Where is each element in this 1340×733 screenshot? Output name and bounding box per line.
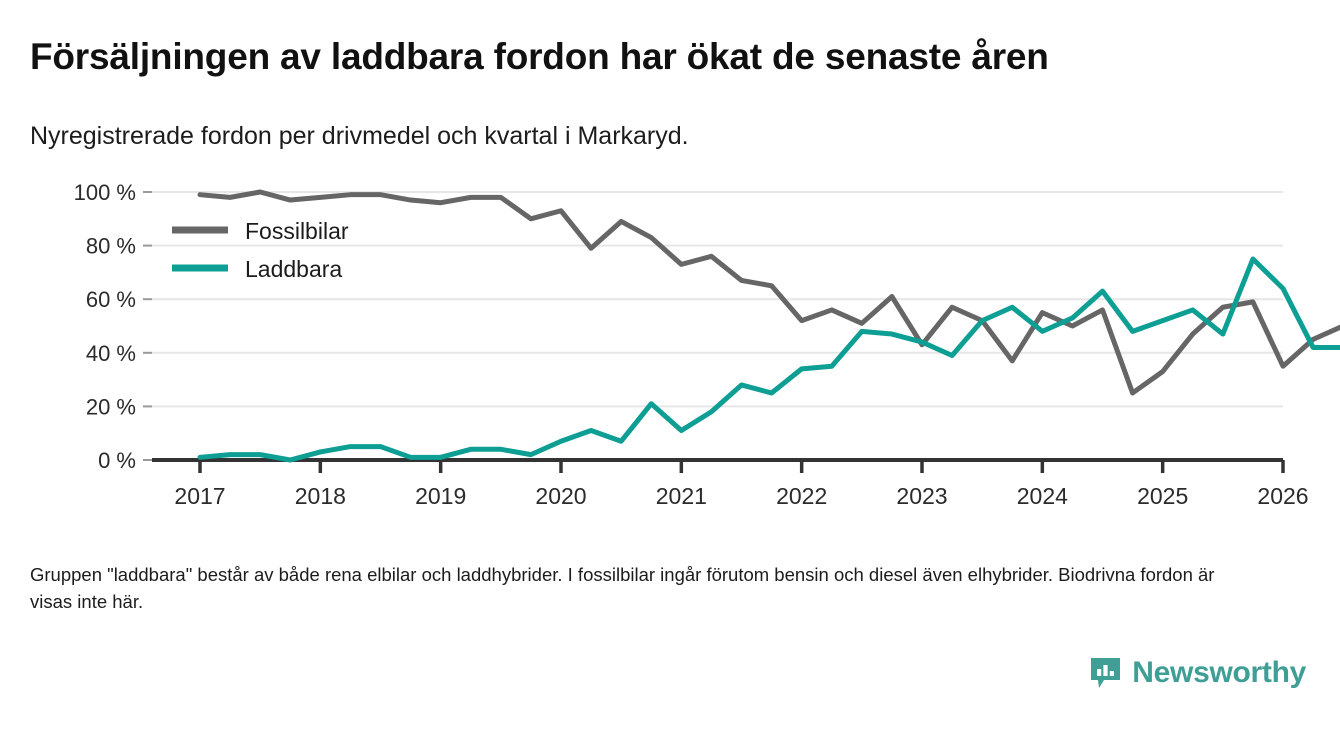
x-axis-tick-label: 2020 [535,483,586,509]
y-axis-tick-label: 0 % [98,448,136,473]
x-axis-tick-label: 2017 [174,483,225,509]
x-axis-tick-label: 2024 [1017,483,1068,509]
chart-subtitle: Nyregistrerade fordon per drivmedel och … [30,122,689,151]
x-axis-tick-label: 2026 [1257,483,1308,509]
legend-label-fossilbilar: Fossilbilar [245,218,349,244]
series-line-fossilbilar [200,192,1340,393]
chart-series-lines [200,192,1340,460]
x-axis-tick-label: 2022 [776,483,827,509]
page-title: Försäljningen av laddbara fordon har öka… [30,36,1049,78]
chart-legend: FossilbilarLaddbara [172,218,349,282]
legend-label-laddbara: Laddbara [245,256,342,282]
y-axis-tick-label: 40 % [86,341,136,366]
x-axis-tick-label: 2021 [656,483,707,509]
x-axis [152,460,1283,473]
series-line-laddbara [200,259,1340,460]
line-chart-svg: 0 %20 %40 %60 %80 %100 % 201720182019202… [0,160,1340,520]
x-axis-tick-label: 2018 [295,483,346,509]
x-axis-tick-label: 2019 [415,483,466,509]
x-axis-tick-label: 2023 [896,483,947,509]
logo-wordmark: Newsworthy [1132,658,1306,688]
y-axis-tick-labels: 0 %20 %40 %60 %80 %100 % [74,180,136,473]
bar-chart-bubble-icon [1088,655,1123,690]
y-axis-tick-label: 20 % [86,394,136,419]
chart-page: Försäljningen av laddbara fordon har öka… [0,0,1340,733]
x-axis-tick-label: 2025 [1137,483,1188,509]
chart-footnote: Gruppen "laddbara" består av både rena e… [30,562,1245,616]
y-axis-tick-label: 100 % [74,180,136,205]
x-axis-tick-labels: 2017201820192020202120222023202420252026 [174,483,1308,509]
chart-plot-area: 0 %20 %40 %60 %80 %100 % 201720182019202… [0,160,1340,520]
newsworthy-logo[interactable]: Newsworthy [1088,655,1306,690]
y-axis-tick-label: 80 % [86,234,136,259]
y-axis-tick-label: 60 % [86,287,136,312]
